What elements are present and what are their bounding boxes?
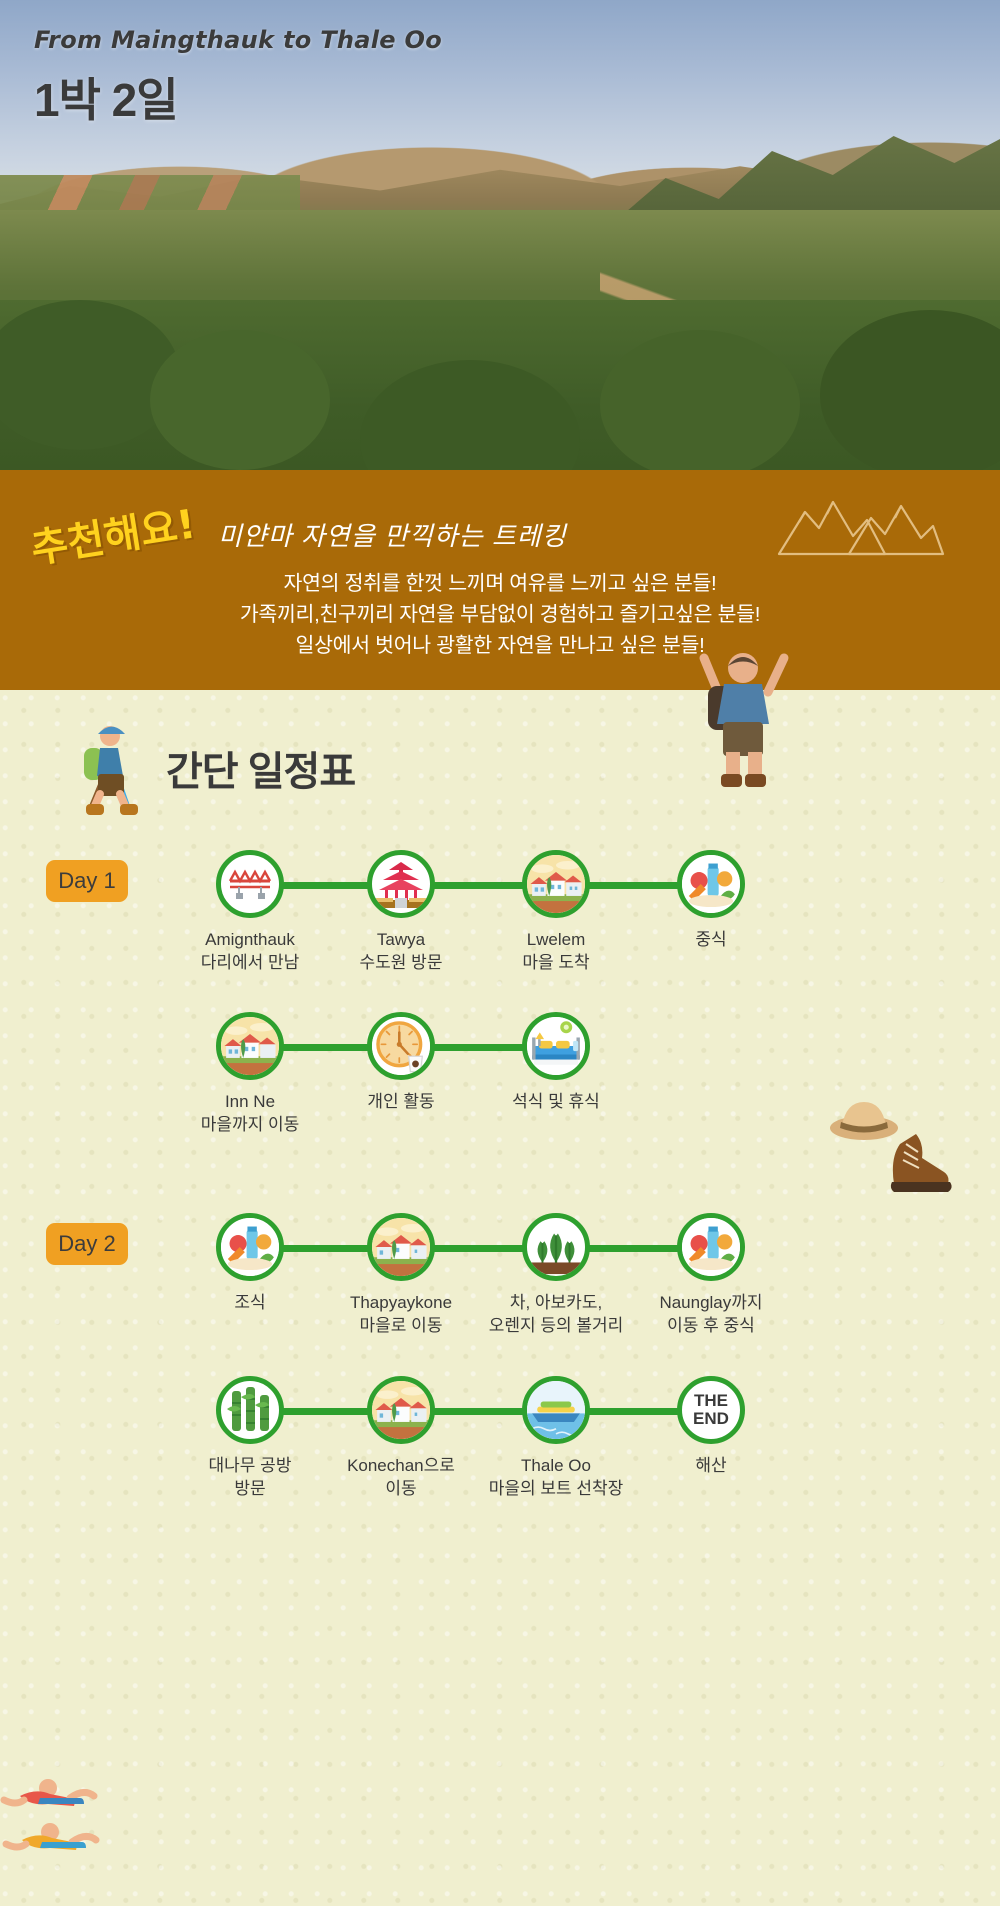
banner-line-1: 자연의 정취를 한껏 느끼며 여유를 느끼고 싶은 분들! [0, 568, 1000, 599]
node-label: 차, 아보카도, 오렌지 등의 볼거리 [471, 1291, 641, 1337]
village-icon [367, 1376, 435, 1444]
plant-icon [522, 1213, 590, 1281]
schedule-section: 간단 일정표 Day 1 Amignthauk 다리에서 만남 [0, 690, 1000, 1906]
itinerary-node[interactable]: Inn Ne 마을까지 이동 [216, 1012, 284, 1080]
node-label: Amignthauk 다리에서 만남 [165, 928, 335, 974]
itinerary-node[interactable]: THE END 해산 [677, 1376, 745, 1444]
day2-row-2: 대나무 공방 방문 [0, 1376, 1000, 1506]
node-label: 중식 [626, 928, 796, 951]
node-label: 조식 [165, 1291, 335, 1314]
hiker-arms-up-icon [690, 640, 800, 790]
page-title: 1박 2일 [34, 64, 442, 130]
itinerary-node[interactable]: Naunglay까지 이동 후 중식 [677, 1213, 745, 1281]
node-label: Inn Ne 마을까지 이동 [165, 1090, 335, 1136]
safari-hat-icon [830, 1102, 898, 1140]
itinerary-node[interactable]: Konechan으로 이동 [367, 1376, 435, 1444]
village-icon [522, 850, 590, 918]
day1-row-1: Amignthauk 다리에서 만남 [0, 850, 1000, 980]
the-end-icon: THE END [677, 1376, 745, 1444]
node-label: Thale Oo 마을의 보트 선착장 [471, 1454, 641, 1500]
node-label: 해산 [626, 1454, 796, 1477]
meal-icon [216, 1213, 284, 1281]
node-label: Naunglay까지 이동 후 중식 [626, 1291, 796, 1337]
itinerary-node[interactable]: 조식 [216, 1213, 284, 1281]
itinerary-node[interactable]: Thale Oo 마을의 보트 선착장 [522, 1376, 590, 1444]
bed-icon [522, 1012, 590, 1080]
recommendation-banner: 추천해요! 미얀마 자연을 만끽하는 트레킹 자연의 정취를 한껏 느끼며 여유… [0, 470, 1000, 690]
temple-icon [367, 850, 435, 918]
node-label: Lwelem 마을 도착 [471, 928, 641, 974]
banner-description: 자연의 정취를 한껏 느끼며 여유를 느끼고 싶은 분들! 가족끼리,친구끼리 … [0, 568, 1000, 661]
swimmers-icon [0, 1770, 120, 1866]
itinerary-node[interactable]: Tawya 수도원 방문 [367, 850, 435, 918]
meal-icon [677, 850, 745, 918]
bamboo-icon [216, 1376, 284, 1444]
boat-icon [522, 1376, 590, 1444]
hero-eyebrow: From Maingthauk to Thale Oo [34, 26, 442, 54]
node-label: 대나무 공방 방문 [165, 1454, 335, 1500]
node-label: Tawya 수도원 방문 [316, 928, 486, 974]
itinerary-node[interactable]: 대나무 공방 방문 [216, 1376, 284, 1444]
village-icon [216, 1012, 284, 1080]
node-label: 개인 활동 [316, 1090, 486, 1113]
banner-line-2: 가족끼리,친구끼리 자연을 부담없이 경험하고 즐기고싶은 분들! [0, 599, 1000, 630]
banner-line-3: 일상에서 벗어나 광활한 자연을 만나고 싶은 분들! [0, 630, 1000, 661]
mountain-outline-icon [775, 488, 945, 560]
meal-icon [677, 1213, 745, 1281]
schedule-title: 간단 일정표 [166, 739, 355, 797]
bridge-icon [216, 850, 284, 918]
banner-subtitle: 미얀마 자연을 만끽하는 트레킹 [218, 516, 567, 553]
hiking-person-icon [80, 720, 142, 816]
hiking-boot-icon [891, 1134, 952, 1192]
itinerary-node[interactable]: 차, 아보카도, 오렌지 등의 볼거리 [522, 1213, 590, 1281]
itinerary-node[interactable]: Amignthauk 다리에서 만남 [216, 850, 284, 918]
node-label: Thapyaykone 마을로 이동 [316, 1291, 486, 1337]
clock-coffee-icon [367, 1012, 435, 1080]
itinerary-node[interactable]: 개인 활동 [367, 1012, 435, 1080]
day2-row-1: 조식 [0, 1213, 1000, 1343]
node-label: 석식 및 휴식 [471, 1090, 641, 1113]
itinerary-node[interactable]: 석식 및 휴식 [522, 1012, 590, 1080]
village-icon [367, 1213, 435, 1281]
gear-decoration [824, 1088, 954, 1198]
itinerary-node[interactable]: Lwelem 마을 도착 [522, 850, 590, 918]
recommend-stamp: 추천해요! [26, 491, 198, 574]
node-label: Konechan으로 이동 [316, 1454, 486, 1500]
itinerary-node[interactable]: Thapyaykone 마을로 이동 [367, 1213, 435, 1281]
hero-title-group: From Maingthauk to Thale Oo 1박 2일 [34, 26, 442, 130]
schedule-header: 간단 일정표 [80, 720, 355, 816]
the-end-text: THE END [693, 1392, 729, 1428]
itinerary-node[interactable]: 중식 [677, 850, 745, 918]
